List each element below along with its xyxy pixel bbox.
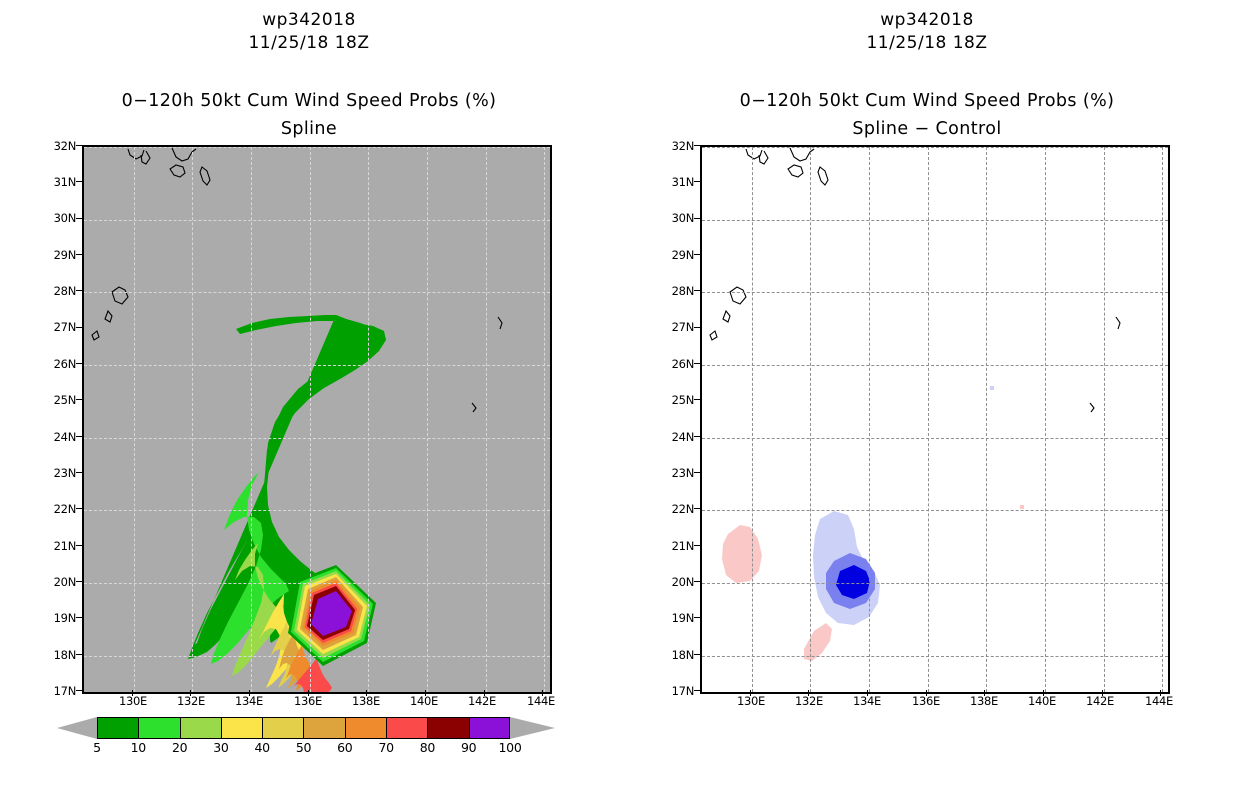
lat-tick <box>694 581 700 582</box>
lat-label: 23N <box>40 466 76 480</box>
colorbar-cell <box>386 717 427 739</box>
lat-tick <box>76 145 82 146</box>
lon-tick <box>366 690 367 696</box>
lon-tick <box>867 690 868 696</box>
colorbar-cell <box>345 717 386 739</box>
panel-spline: wp342018 11/25/18 18Z 0−120h 50kt Cum Wi… <box>0 0 618 800</box>
lon-tick <box>249 690 250 696</box>
lat-label: 31N <box>658 175 694 189</box>
lat-tick <box>694 327 700 328</box>
colorbar-under-arrow <box>57 717 97 739</box>
lat-tick <box>76 472 82 473</box>
lon-tick <box>1160 690 1161 696</box>
colorbar-probability <box>97 717 510 739</box>
lat-label: 17N <box>658 684 694 698</box>
coastline-group <box>92 148 502 412</box>
lon-label: 144E <box>518 694 564 708</box>
chart-subtitle-right: Spline − Control <box>618 119 1236 139</box>
lat-label: 24N <box>658 430 694 444</box>
colorbar-tick-label: 20 <box>160 740 200 755</box>
lon-label: 144E <box>1136 694 1182 708</box>
lat-label: 21N <box>658 539 694 553</box>
lat-label: 24N <box>40 430 76 444</box>
lat-label: 19N <box>40 611 76 625</box>
lat-label: 22N <box>658 502 694 516</box>
lon-tick <box>1102 690 1103 696</box>
coastline-group-right <box>710 148 1120 412</box>
lat-label: 28N <box>40 284 76 298</box>
anom-positive-tiny <box>1020 505 1024 509</box>
lat-tick <box>694 254 700 255</box>
lat-tick <box>76 254 82 255</box>
colorbar-over-arrow <box>510 717 555 739</box>
colorbar-tick-label: 80 <box>407 740 447 755</box>
lat-label: 20N <box>658 575 694 589</box>
lat-tick <box>694 617 700 618</box>
colorbar-tick-label: 70 <box>366 740 406 755</box>
colorbar-tick-label: 40 <box>242 740 282 755</box>
lat-tick <box>694 545 700 546</box>
lat-label: 29N <box>40 248 76 262</box>
lon-label: 138E <box>343 694 389 708</box>
lat-tick <box>76 581 82 582</box>
storm-id-right: wp342018 <box>618 10 1236 30</box>
lat-label: 26N <box>40 357 76 371</box>
lat-tick <box>76 690 82 691</box>
colorbar-tick-label: 5 <box>77 740 117 755</box>
lat-label: 32N <box>40 139 76 153</box>
lat-tick <box>76 363 82 364</box>
lat-label: 27N <box>658 320 694 334</box>
lat-label: 20N <box>40 575 76 589</box>
lat-label: 22N <box>40 502 76 516</box>
lon-label: 134E <box>844 694 890 708</box>
lon-tick <box>808 690 809 696</box>
map-plot-spline <box>82 145 552 694</box>
lon-tick <box>484 690 485 696</box>
anom-negative-tiny <box>990 386 994 390</box>
lat-tick <box>76 545 82 546</box>
lat-label: 21N <box>40 539 76 553</box>
lat-tick <box>76 654 82 655</box>
chart-title-right: 0−120h 50kt Cum Wind Speed Probs (%) <box>618 91 1236 111</box>
lon-label: 130E <box>110 694 156 708</box>
lon-tick <box>542 690 543 696</box>
chart-title-left: 0−120h 50kt Cum Wind Speed Probs (%) <box>0 91 618 111</box>
colorbar-tick-label: 100 <box>490 740 530 755</box>
lat-label: 31N <box>40 175 76 189</box>
lat-tick <box>694 690 700 691</box>
lat-label: 26N <box>658 357 694 371</box>
lat-tick <box>76 290 82 291</box>
lat-tick <box>76 508 82 509</box>
lon-tick <box>750 690 751 696</box>
lat-tick <box>694 399 700 400</box>
lon-tick <box>308 690 309 696</box>
colorbar-tick-label: 60 <box>325 740 365 755</box>
lon-label: 138E <box>961 694 1007 708</box>
lon-tick <box>190 690 191 696</box>
colorbar-cell <box>138 717 179 739</box>
lat-label: 18N <box>658 648 694 662</box>
difference-contours <box>722 386 1024 661</box>
colorbar-tick-label: 90 <box>449 740 489 755</box>
lat-tick <box>76 617 82 618</box>
colorbar-cell <box>262 717 303 739</box>
lat-label: 30N <box>658 211 694 225</box>
lat-label: 17N <box>40 684 76 698</box>
lon-label: 132E <box>168 694 214 708</box>
lat-label: 18N <box>40 648 76 662</box>
lon-label: 132E <box>786 694 832 708</box>
colorbar-cell <box>97 717 138 739</box>
colorbar-cell <box>180 717 221 739</box>
lon-label: 134E <box>226 694 272 708</box>
lon-label: 130E <box>728 694 774 708</box>
lat-label: 27N <box>40 320 76 334</box>
colorbar-tick-label: 50 <box>284 740 324 755</box>
probability-contours <box>188 315 386 692</box>
lat-tick <box>694 363 700 364</box>
colorbar-tick-label: 30 <box>201 740 241 755</box>
lon-tick <box>1043 690 1044 696</box>
lat-tick <box>694 654 700 655</box>
lat-tick <box>694 436 700 437</box>
lat-tick <box>76 436 82 437</box>
lat-tick <box>694 218 700 219</box>
valid-time-left: 11/25/18 18Z <box>0 33 618 53</box>
lat-label: 19N <box>658 611 694 625</box>
lat-label: 32N <box>658 139 694 153</box>
lat-label: 25N <box>658 393 694 407</box>
storm-id-left: wp342018 <box>0 10 618 30</box>
lon-label: 142E <box>459 694 505 708</box>
lon-tick <box>425 690 426 696</box>
colorbar-tick-label: 10 <box>118 740 158 755</box>
lat-tick <box>694 290 700 291</box>
chart-subtitle-left: Spline <box>0 119 618 139</box>
colorbar-cell <box>303 717 344 739</box>
anomaly-overlay <box>702 147 1168 692</box>
lat-tick <box>694 508 700 509</box>
lat-tick <box>694 472 700 473</box>
lon-tick <box>132 690 133 696</box>
colorbar-cell <box>221 717 262 739</box>
lon-label: 142E <box>1077 694 1123 708</box>
lon-label: 136E <box>285 694 331 708</box>
map-plot-difference <box>700 145 1170 694</box>
valid-time-right: 11/25/18 18Z <box>618 33 1236 53</box>
lat-tick <box>76 327 82 328</box>
anom-positive-west <box>722 525 762 583</box>
lon-tick <box>984 690 985 696</box>
lat-tick <box>76 181 82 182</box>
lon-label: 140E <box>1019 694 1065 708</box>
lat-tick <box>76 218 82 219</box>
lat-label: 30N <box>40 211 76 225</box>
lat-tick <box>76 399 82 400</box>
lat-label: 23N <box>658 466 694 480</box>
colorbar-cell <box>427 717 468 739</box>
colorbar-cell <box>469 717 510 739</box>
lon-label: 140E <box>401 694 447 708</box>
lon-label: 136E <box>903 694 949 708</box>
lat-tick <box>694 145 700 146</box>
lat-label: 25N <box>40 393 76 407</box>
panel-spline-minus-control: wp342018 11/25/18 18Z 0−120h 50kt Cum Wi… <box>618 0 1236 800</box>
anom-positive-south <box>804 623 832 661</box>
lat-label: 29N <box>658 248 694 262</box>
lon-tick <box>926 690 927 696</box>
contour-overlay-spline <box>84 147 550 692</box>
lat-tick <box>694 181 700 182</box>
lat-label: 28N <box>658 284 694 298</box>
